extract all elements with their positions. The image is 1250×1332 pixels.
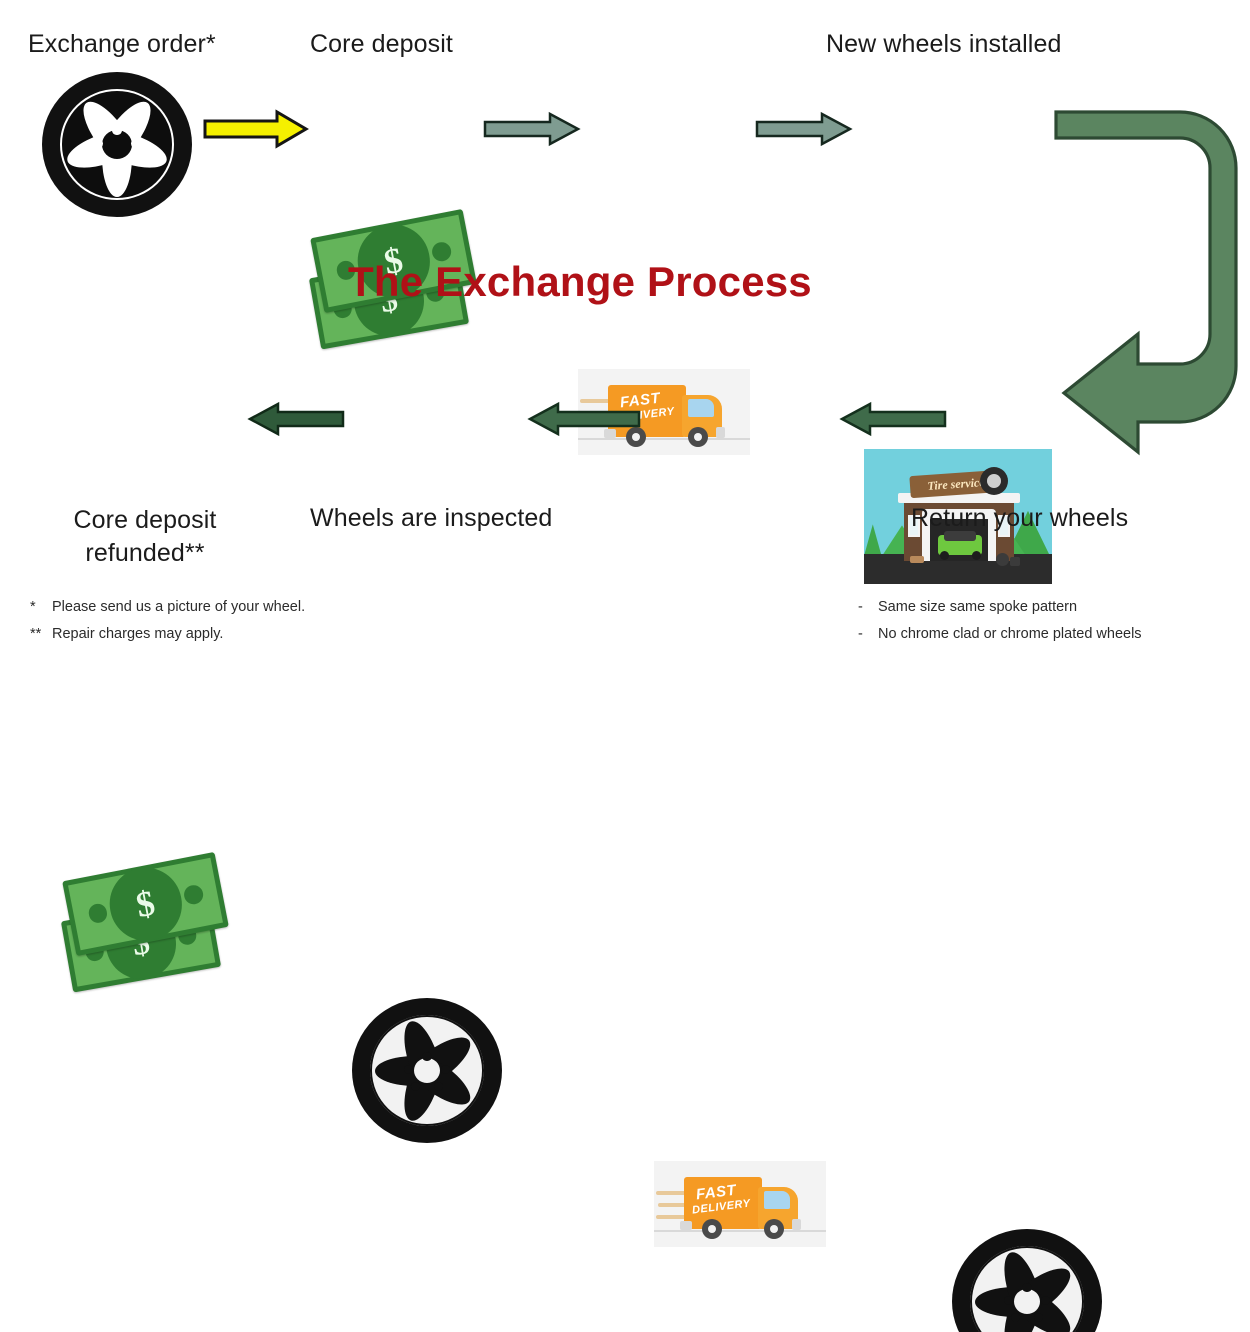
spare-tire-prop — [996, 553, 1009, 566]
arrow-5-return-to-shipping — [840, 402, 946, 436]
lug-nut — [1034, 1313, 1043, 1322]
lug-nut — [124, 156, 133, 165]
truck-bumper — [680, 1221, 692, 1230]
step-label-exchange-order: Exchange order* — [28, 30, 216, 59]
footnote-bullet: - — [858, 594, 878, 621]
black-alloy-wheel-icon — [42, 72, 192, 217]
step-label-return-your-wheels: Return your wheels — [911, 504, 1128, 533]
banknote-dot — [87, 902, 109, 924]
footnote-item: *Please send us a picture of your wheel. — [30, 594, 305, 621]
fast-delivery-truck-icon-return: FAST DELIVERY — [654, 1161, 826, 1247]
chrome-alloy-wheel-icon-inspected — [352, 998, 502, 1143]
car-wheel — [940, 551, 949, 560]
road-line — [578, 438, 750, 440]
step-label-wheels-inspected: Wheels are inspected — [310, 504, 552, 533]
footnote-text: No chrome clad or chrome plated wheels — [878, 626, 1142, 642]
arrow-3-shipping-to-installed — [756, 112, 852, 146]
lug-nut — [441, 1065, 450, 1074]
sign-tire-icon — [980, 467, 1008, 495]
truck-wheel — [702, 1219, 722, 1239]
footnote-mark: * — [30, 594, 52, 621]
banknote-dot — [182, 884, 204, 906]
lug-nut — [1041, 1296, 1050, 1305]
speed-line — [658, 1203, 686, 1207]
truck-wheel — [688, 427, 708, 447]
step-label-new-wheels-installed: New wheels installed — [826, 30, 1061, 59]
footnote-item: -No chrome clad or chrome plated wheels — [858, 621, 1142, 648]
arrow-7-inspected-to-refund — [248, 402, 344, 436]
road-line — [654, 1230, 826, 1232]
truck-wheel — [764, 1219, 784, 1239]
lug-nut — [112, 126, 121, 135]
arrow-6-shipping-to-inspected — [528, 402, 640, 436]
footnote-text: Please send us a picture of your wheel. — [52, 599, 305, 615]
footnote-text: Repair charges may apply. — [52, 626, 223, 642]
car-wheel — [972, 551, 981, 560]
crate-prop — [910, 556, 924, 563]
step-label-core-deposit: Core deposit — [310, 30, 453, 59]
lug-nut — [422, 1052, 431, 1061]
dollar-symbol: $ — [103, 861, 188, 946]
truck-bumper — [792, 1219, 801, 1230]
footnote-mark: ** — [30, 621, 52, 648]
refund-label-line2: refunded** — [40, 537, 250, 570]
chrome-alloy-wheel-icon-return — [952, 1229, 1102, 1332]
lug-nut — [131, 139, 140, 148]
page-title: The Exchange Process — [348, 258, 812, 306]
lug-nut — [434, 1082, 443, 1091]
footnote-bullet: - — [858, 621, 878, 648]
footnote-item: **Repair charges may apply. — [30, 621, 305, 648]
lug-nut — [1022, 1283, 1031, 1292]
step-label-core-deposit-refunded: Core deposit refunded** — [40, 504, 250, 570]
truck-window — [688, 399, 714, 417]
exchange-process-diagram: Exchange order* Core deposit New wheels … — [0, 0, 1250, 666]
footnote-item: -Same size same spoke pattern — [858, 594, 1142, 621]
truck-window — [764, 1191, 790, 1209]
footnote-text: Same size same spoke pattern — [878, 599, 1077, 615]
arrow-2-deposit-to-shipping — [484, 112, 580, 146]
cash-money-icon-refund: $ $ — [58, 858, 233, 998]
tool-prop — [1010, 557, 1020, 566]
footnotes-right: -Same size same spoke pattern -No chrome… — [858, 594, 1142, 648]
truck-bumper — [716, 427, 725, 438]
arrow-1-exchange-to-deposit — [203, 110, 308, 148]
arrow-4-return-loop — [1052, 108, 1242, 460]
refund-label-line1: Core deposit — [40, 504, 250, 537]
footnotes-left: *Please send us a picture of your wheel.… — [30, 594, 305, 648]
